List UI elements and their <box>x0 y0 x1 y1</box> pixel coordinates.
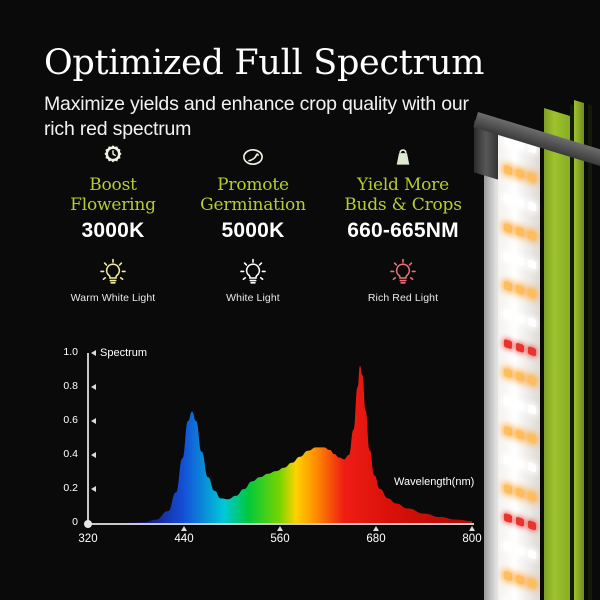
led-amber <box>528 230 536 240</box>
lightbulb-icon <box>38 252 188 292</box>
led-amber <box>516 575 524 585</box>
sprout-circle-icon <box>178 142 328 172</box>
x-axis <box>87 523 474 525</box>
y-tick-mark <box>91 418 96 424</box>
led-amber <box>504 571 512 581</box>
x-tick-label: 680 <box>356 533 396 545</box>
led-white <box>528 259 536 269</box>
led-row <box>502 425 538 445</box>
led-row <box>502 193 538 213</box>
led-amber <box>528 578 536 588</box>
led-white <box>516 198 524 208</box>
led-amber <box>504 484 512 494</box>
led-row <box>502 454 538 474</box>
led-red <box>516 343 524 353</box>
led-row <box>502 541 538 561</box>
lightbulb-icon <box>328 252 478 292</box>
light-type-list: Warm White Light White Light <box>20 252 470 314</box>
led-white <box>516 401 524 411</box>
led-row <box>502 251 538 271</box>
feature-title: Yield More Buds & Crops <box>328 175 478 215</box>
x-tick-mark <box>277 526 283 531</box>
led-row <box>502 338 538 358</box>
x-axis-label: Wavelength(nm) <box>394 476 474 488</box>
feature-value: 660-665NM <box>328 219 478 243</box>
led-amber <box>504 223 512 233</box>
light-type-label: Warm White Light <box>38 292 188 304</box>
x-tick-label: 320 <box>68 533 108 545</box>
x-tick-label: 560 <box>260 533 300 545</box>
y-tick-label: 0 <box>54 516 78 528</box>
led-amber <box>504 368 512 378</box>
spectrum-curve <box>88 353 472 523</box>
led-white <box>516 256 524 266</box>
led-white <box>504 194 512 204</box>
spectrum-chart: Spectrum Wavelength(nm) 00.20.40.60.81.0… <box>46 345 486 545</box>
feature-title-line1: Promote <box>217 175 289 195</box>
led-red <box>516 517 524 527</box>
led-grow-light-bar <box>470 0 600 600</box>
x-tick-mark <box>181 526 187 531</box>
page-subtitle: Maximize yields and enhance crop quality… <box>44 92 474 142</box>
promo-banner: Optimized Full Spectrum Maximize yields … <box>0 0 600 600</box>
led-row <box>502 164 538 184</box>
led-white <box>504 397 512 407</box>
feature-item-promote-germination: Promote Germination 5000K <box>178 142 328 243</box>
led-white <box>528 404 536 414</box>
led-red <box>504 513 512 523</box>
y-tick-mark <box>91 350 96 356</box>
x-tick-mark <box>373 526 379 531</box>
led-amber <box>516 488 524 498</box>
lightbulb-icon <box>178 252 328 292</box>
led-white <box>528 549 536 559</box>
page-title: Optimized Full Spectrum <box>44 43 484 83</box>
led-row <box>502 222 538 242</box>
led-amber <box>528 288 536 298</box>
feature-title-line1: Yield More <box>357 175 449 195</box>
led-white <box>504 542 512 552</box>
led-red <box>528 520 536 530</box>
led-amber <box>504 165 512 175</box>
y-tick-mark <box>91 452 96 458</box>
y-tick-label: 0.4 <box>54 448 78 460</box>
feature-list: Boost Flowering 3000K Promote Germinatio… <box>20 142 470 250</box>
feature-title: Promote Germination <box>178 175 328 215</box>
led-row <box>502 309 538 329</box>
led-amber <box>504 426 512 436</box>
led-red <box>528 346 536 356</box>
y-tick-label: 0.6 <box>54 414 78 426</box>
y-tick-mark <box>91 384 96 390</box>
led-amber <box>528 491 536 501</box>
led-white <box>516 546 524 556</box>
led-white <box>528 201 536 211</box>
feature-title-line2: Germination <box>200 195 306 215</box>
led-amber <box>516 372 524 382</box>
led-row <box>502 367 538 387</box>
green-accent-strip-secondary <box>574 100 584 600</box>
feature-title-line1: Boost <box>89 175 137 195</box>
led-amber <box>516 169 524 179</box>
led-amber <box>516 285 524 295</box>
led-white <box>516 314 524 324</box>
feature-title-line2: Buds & Crops <box>344 195 462 215</box>
led-white <box>504 252 512 262</box>
led-amber <box>516 430 524 440</box>
led-row <box>502 512 538 532</box>
y-tick-label: 0.2 <box>54 482 78 494</box>
origin-dot <box>84 520 92 528</box>
feature-title: Boost Flowering <box>38 175 188 215</box>
x-tick-label: 440 <box>164 533 204 545</box>
feature-title-line2: Flowering <box>70 195 156 215</box>
led-white <box>528 462 536 472</box>
feature-item-boost-flowering: Boost Flowering 3000K <box>38 142 188 243</box>
led-row <box>502 483 538 503</box>
led-row <box>502 396 538 416</box>
led-white <box>528 317 536 327</box>
light-type-label: Rich Red Light <box>328 292 478 304</box>
feature-item-yield-more: Yield More Buds & Crops 660-665NM <box>328 142 478 243</box>
led-face <box>498 126 540 600</box>
weight-icon <box>328 142 478 172</box>
led-row <box>502 280 538 300</box>
y-tick-label: 0.8 <box>54 380 78 392</box>
led-amber <box>528 375 536 385</box>
clock-badge-icon <box>38 142 188 172</box>
light-type-white: White Light <box>178 252 328 304</box>
led-amber <box>504 281 512 291</box>
feature-value: 5000K <box>178 219 328 243</box>
y-tick-mark <box>91 486 96 492</box>
light-type-warm-white: Warm White Light <box>38 252 188 304</box>
led-white <box>516 459 524 469</box>
led-amber <box>516 227 524 237</box>
led-red <box>504 339 512 349</box>
led-white <box>504 310 512 320</box>
light-type-rich-red: Rich Red Light <box>328 252 478 304</box>
y-tick-label: 1.0 <box>54 346 78 358</box>
led-amber <box>528 172 536 182</box>
light-type-label: White Light <box>178 292 328 304</box>
y-axis <box>87 353 89 525</box>
led-row <box>502 570 538 590</box>
led-amber <box>528 433 536 443</box>
feature-value: 3000K <box>38 219 188 243</box>
green-accent-strip <box>544 108 570 600</box>
panel-seam <box>588 104 592 600</box>
led-white <box>504 455 512 465</box>
y-axis-label: Spectrum <box>100 347 147 359</box>
